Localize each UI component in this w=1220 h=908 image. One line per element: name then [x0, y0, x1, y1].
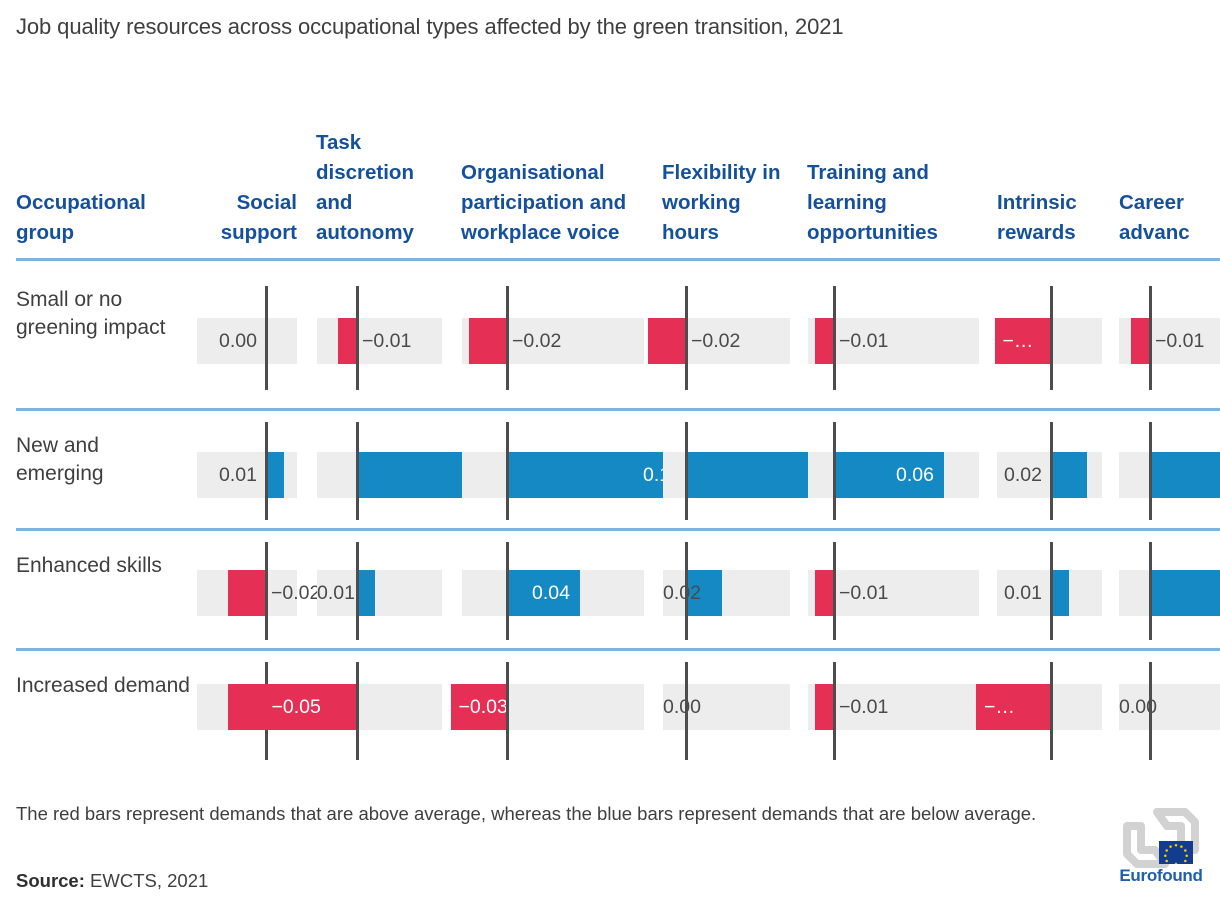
bar-positive — [1149, 452, 1220, 498]
chart-cell: −0.01 — [0, 268, 1220, 408]
chart-cell: 0.00 — [0, 652, 1220, 768]
eurofound-wordmark: Eurofound — [1113, 866, 1209, 886]
table-header: Occupational group Social support Task d… — [0, 100, 1220, 248]
row-separator-2 — [16, 528, 1220, 531]
page-title: Job quality resources across occupationa… — [16, 14, 844, 40]
chart-row: Enhanced skills−0.020.010.040.02−0.010.0… — [0, 532, 1220, 648]
zero-line-tick — [1149, 542, 1152, 640]
eu-flag-icon — [1159, 841, 1193, 864]
chart-row: Increased demand−0.02−0.05−0.030.00−0.01… — [0, 652, 1220, 768]
bar-negative — [1131, 318, 1150, 364]
row-separator-1 — [16, 408, 1220, 411]
chart-row: New and emerging0.010.120.100.110.060.02 — [0, 412, 1220, 528]
header-separator — [16, 258, 1220, 261]
row-separator-3 — [16, 648, 1220, 651]
column-header-training-learning: Training and learning opportunities — [807, 158, 987, 248]
bar-value-label: 0.00 — [1119, 684, 1141, 730]
column-header-social-support: Social support — [186, 188, 297, 248]
chart-row: Small or no greening impact0.00−0.01−0.0… — [0, 268, 1220, 408]
column-header-occupational-group: Occupational group — [16, 188, 206, 248]
bar-positive — [1149, 570, 1220, 616]
column-header-intrinsic-rewards: Intrinsic rewards — [997, 188, 1107, 248]
source-label: Source: — [16, 870, 85, 891]
zero-line-tick — [1149, 422, 1152, 520]
zero-line-tick — [1149, 286, 1152, 390]
column-header-flexibility-working-hours: Flexibility in working hours — [662, 158, 792, 248]
eurofound-logo: Eurofound — [1113, 808, 1209, 892]
chart-cell — [0, 532, 1220, 648]
source-line: Source: EWCTS, 2021 — [16, 870, 208, 892]
chart-page: Job quality resources across occupationa… — [0, 0, 1220, 908]
column-header-career-advancement: Career advanc — [1119, 188, 1220, 248]
column-header-organisational-participation: Organisational participation and workpla… — [461, 158, 657, 248]
chart-note: The red bars represent demands that are … — [16, 800, 1076, 827]
column-header-task-discretion: Task discretion and autonomy — [316, 128, 446, 248]
zero-line-tick — [1149, 662, 1152, 760]
chart-cell — [0, 412, 1220, 528]
bar-value-label: −0.01 — [1155, 318, 1220, 364]
source-value: EWCTS, 2021 — [90, 870, 208, 891]
